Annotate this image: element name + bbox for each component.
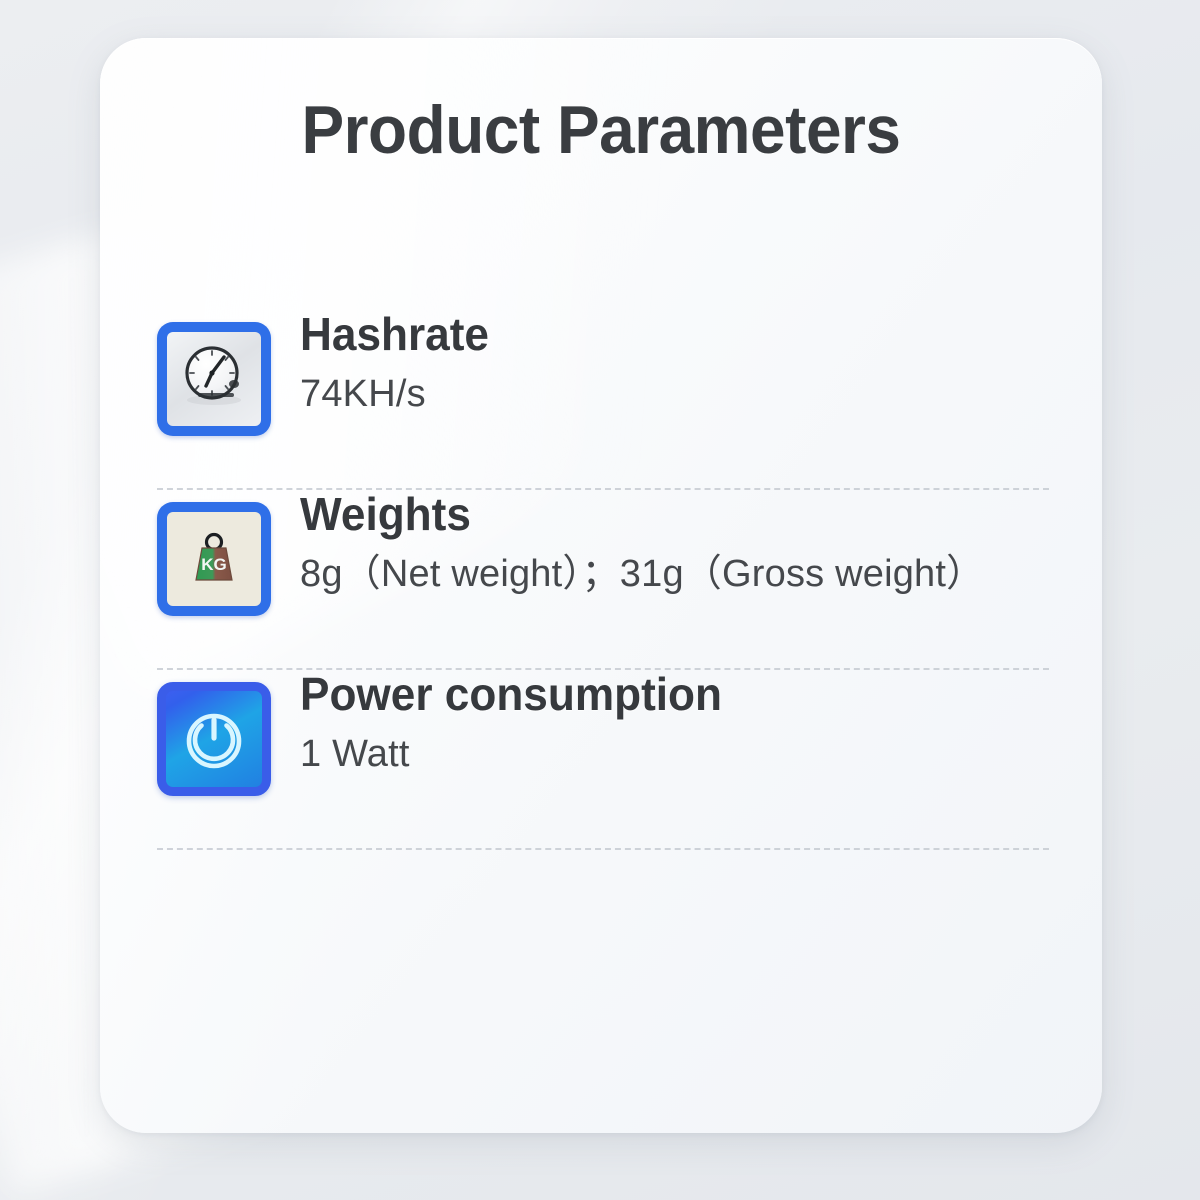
speedometer-icon-glyph [172,337,256,421]
parameter-text-hashrate: Hashrate 74KH/s [300,310,497,416]
page-title: Product Parameters [130,96,1072,164]
kg-weight-icon: KG [157,502,271,616]
parameter-row-power: Power consumption 1 Watt [157,670,1049,848]
parameter-list: Hashrate 74KH/s [157,310,1049,850]
parameter-value: 8g（Net weight）；31g（Gross weight） [300,554,984,596]
kg-weight-icon-glyph: KG [177,522,251,596]
parameter-value: 1 Watt [300,734,740,776]
parameter-label: Weights [300,490,957,538]
parameter-text-power: Power consumption 1 Watt [300,670,740,776]
parameter-label: Power consumption [300,670,722,718]
parameter-row-hashrate: Hashrate 74KH/s [157,310,1049,488]
parameter-label: Hashrate [300,310,489,358]
row-divider [157,848,1049,850]
parameter-text-weights: Weights 8g（Net weight）；31g（Gross weight） [300,490,984,596]
speedometer-icon [157,322,271,436]
parameter-value: 74KH/s [300,374,497,416]
parameter-row-weights: KG Weights 8g（Net weight）；31g（Gross weig… [157,490,1049,668]
product-parameters-card: Product Parameters [100,38,1102,1133]
svg-text:KG: KG [201,555,227,574]
power-icon [157,682,271,796]
power-icon-glyph [175,700,253,778]
